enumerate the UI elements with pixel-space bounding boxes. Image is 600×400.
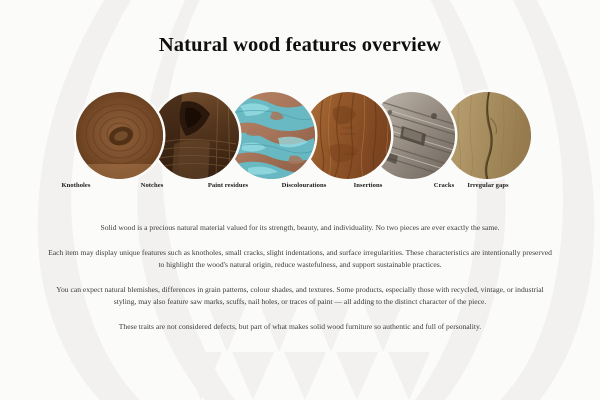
feature-label: Notches xyxy=(141,182,164,189)
feature-circle-strip: Knotholes xyxy=(0,92,600,198)
feature-label: Discolourations xyxy=(282,182,327,189)
wood-discolouration-swatch-icon xyxy=(304,92,391,179)
page-title: Natural wood features overview xyxy=(0,34,600,57)
feature-label: Paint residues xyxy=(208,182,248,189)
paragraph-3: You can expect natural blemishes, differ… xyxy=(45,284,555,309)
feature-label: Insertions xyxy=(354,182,383,189)
wood-paint-residue-swatch-icon xyxy=(228,92,315,179)
feature-label: Cracks xyxy=(434,182,454,189)
wood-notch-swatch-icon xyxy=(152,92,239,179)
body-copy: Solid wood is a precious natural materia… xyxy=(45,222,555,334)
paragraph-4: These traits are not considered defects,… xyxy=(45,321,555,334)
feature-label: Irregular gaps xyxy=(467,182,508,189)
infographic-page: Natural wood features overview xyxy=(0,0,600,400)
wood-knothole-swatch-icon xyxy=(76,92,163,179)
paragraph-1: Solid wood is a precious natural materia… xyxy=(45,222,555,235)
wood-crack-swatch-icon xyxy=(444,92,531,179)
paragraph-2: Each item may display unique features su… xyxy=(45,247,555,272)
feature-label: Knotholes xyxy=(61,182,90,189)
